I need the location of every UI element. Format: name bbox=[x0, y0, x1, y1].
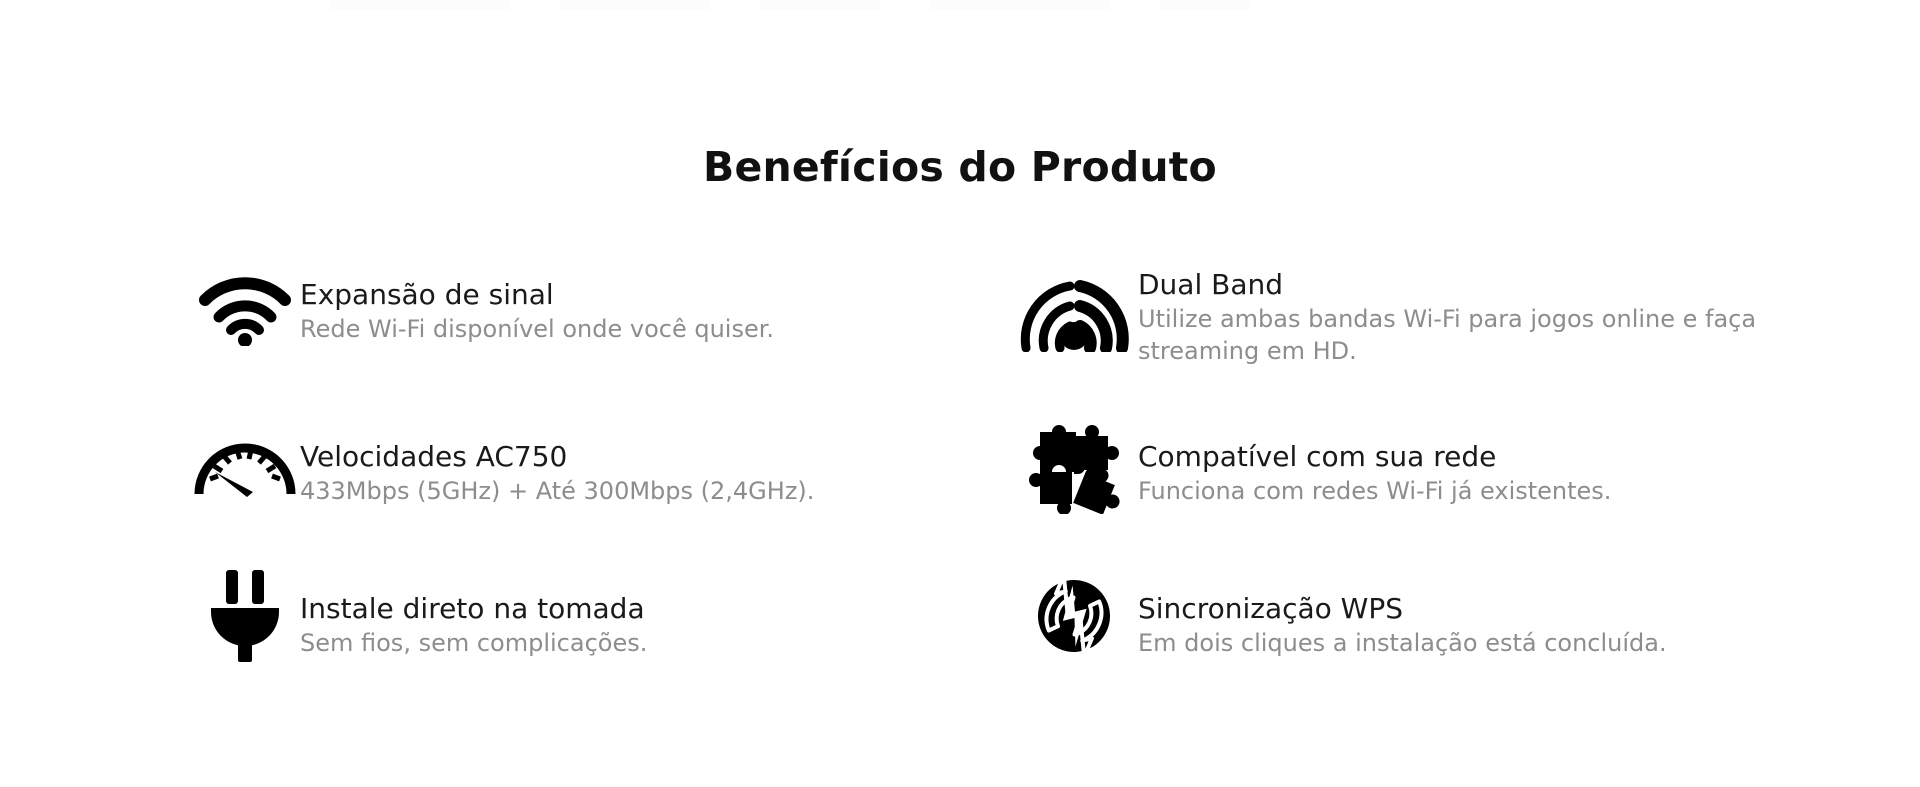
benefits-grid: Expansão de sinal Rede Wi-Fi disponível … bbox=[0, 268, 1920, 718]
benefit-description: 433Mbps (5GHz) + Até 300Mbps (2,4GHz). bbox=[300, 476, 990, 508]
benefit-item-compativel-com-sua-rede: Compatível com sua rede Funciona com red… bbox=[1010, 418, 1910, 568]
benefit-description: Rede Wi-Fi disponível onde você quiser. bbox=[300, 314, 990, 346]
benefit-item-dual-band: Dual Band Utilize ambas bandas Wi-Fi par… bbox=[1010, 268, 1910, 418]
page-title: Benefícios do Produto bbox=[0, 143, 1920, 191]
speedometer-icon bbox=[190, 418, 300, 510]
benefit-title: Compatível com sua rede bbox=[1138, 440, 1910, 474]
top-edge-artifacts bbox=[0, 0, 1920, 14]
benefit-title: Sincronização WPS bbox=[1138, 592, 1910, 626]
benefit-text-block: Expansão de sinal Rede Wi-Fi disponível … bbox=[300, 268, 1010, 346]
benefit-text-block: Dual Band Utilize ambas bandas Wi-Fi par… bbox=[1138, 268, 1910, 368]
benefit-text-block: Instale direto na tomada Sem fios, sem c… bbox=[300, 568, 1010, 660]
benefit-item-sincronizacao-wps: Sincronização WPS Em dois cliques a inst… bbox=[1010, 568, 1910, 718]
benefit-description: Utilize ambas bandas Wi-Fi para jogos on… bbox=[1138, 304, 1828, 367]
benefit-text-block: Compatível com sua rede Funciona com red… bbox=[1138, 418, 1910, 508]
benefit-item-velocidades-ac750: Velocidades AC750 433Mbps (5GHz) + Até 3… bbox=[190, 418, 1010, 568]
benefit-title: Dual Band bbox=[1138, 268, 1910, 302]
benefit-description: Funciona com redes Wi-Fi já existentes. bbox=[1138, 476, 1828, 508]
benefit-text-block: Velocidades AC750 433Mbps (5GHz) + Até 3… bbox=[300, 418, 1010, 508]
wps-sync-icon bbox=[1010, 568, 1138, 660]
wifi-icon bbox=[190, 268, 300, 366]
puzzle-pieces-icon bbox=[1010, 418, 1138, 510]
benefit-text-block: Sincronização WPS Em dois cliques a inst… bbox=[1138, 568, 1910, 660]
power-plug-icon bbox=[190, 568, 300, 660]
benefit-title: Expansão de sinal bbox=[300, 278, 1010, 312]
benefit-description: Em dois cliques a instalação está conclu… bbox=[1138, 628, 1828, 660]
benefit-description: Sem fios, sem complicações. bbox=[300, 628, 990, 660]
product-benefits-page: Benefícios do Produto Expansão de sinal … bbox=[0, 0, 1920, 787]
benefit-title: Instale direto na tomada bbox=[300, 592, 1010, 626]
benefit-item-expansao-de-sinal: Expansão de sinal Rede Wi-Fi disponível … bbox=[190, 268, 1010, 418]
benefit-item-instale-direto-na-tomada: Instale direto na tomada Sem fios, sem c… bbox=[190, 568, 1010, 718]
dual-band-signal-icon bbox=[1010, 268, 1138, 364]
benefit-title: Velocidades AC750 bbox=[300, 440, 1010, 474]
